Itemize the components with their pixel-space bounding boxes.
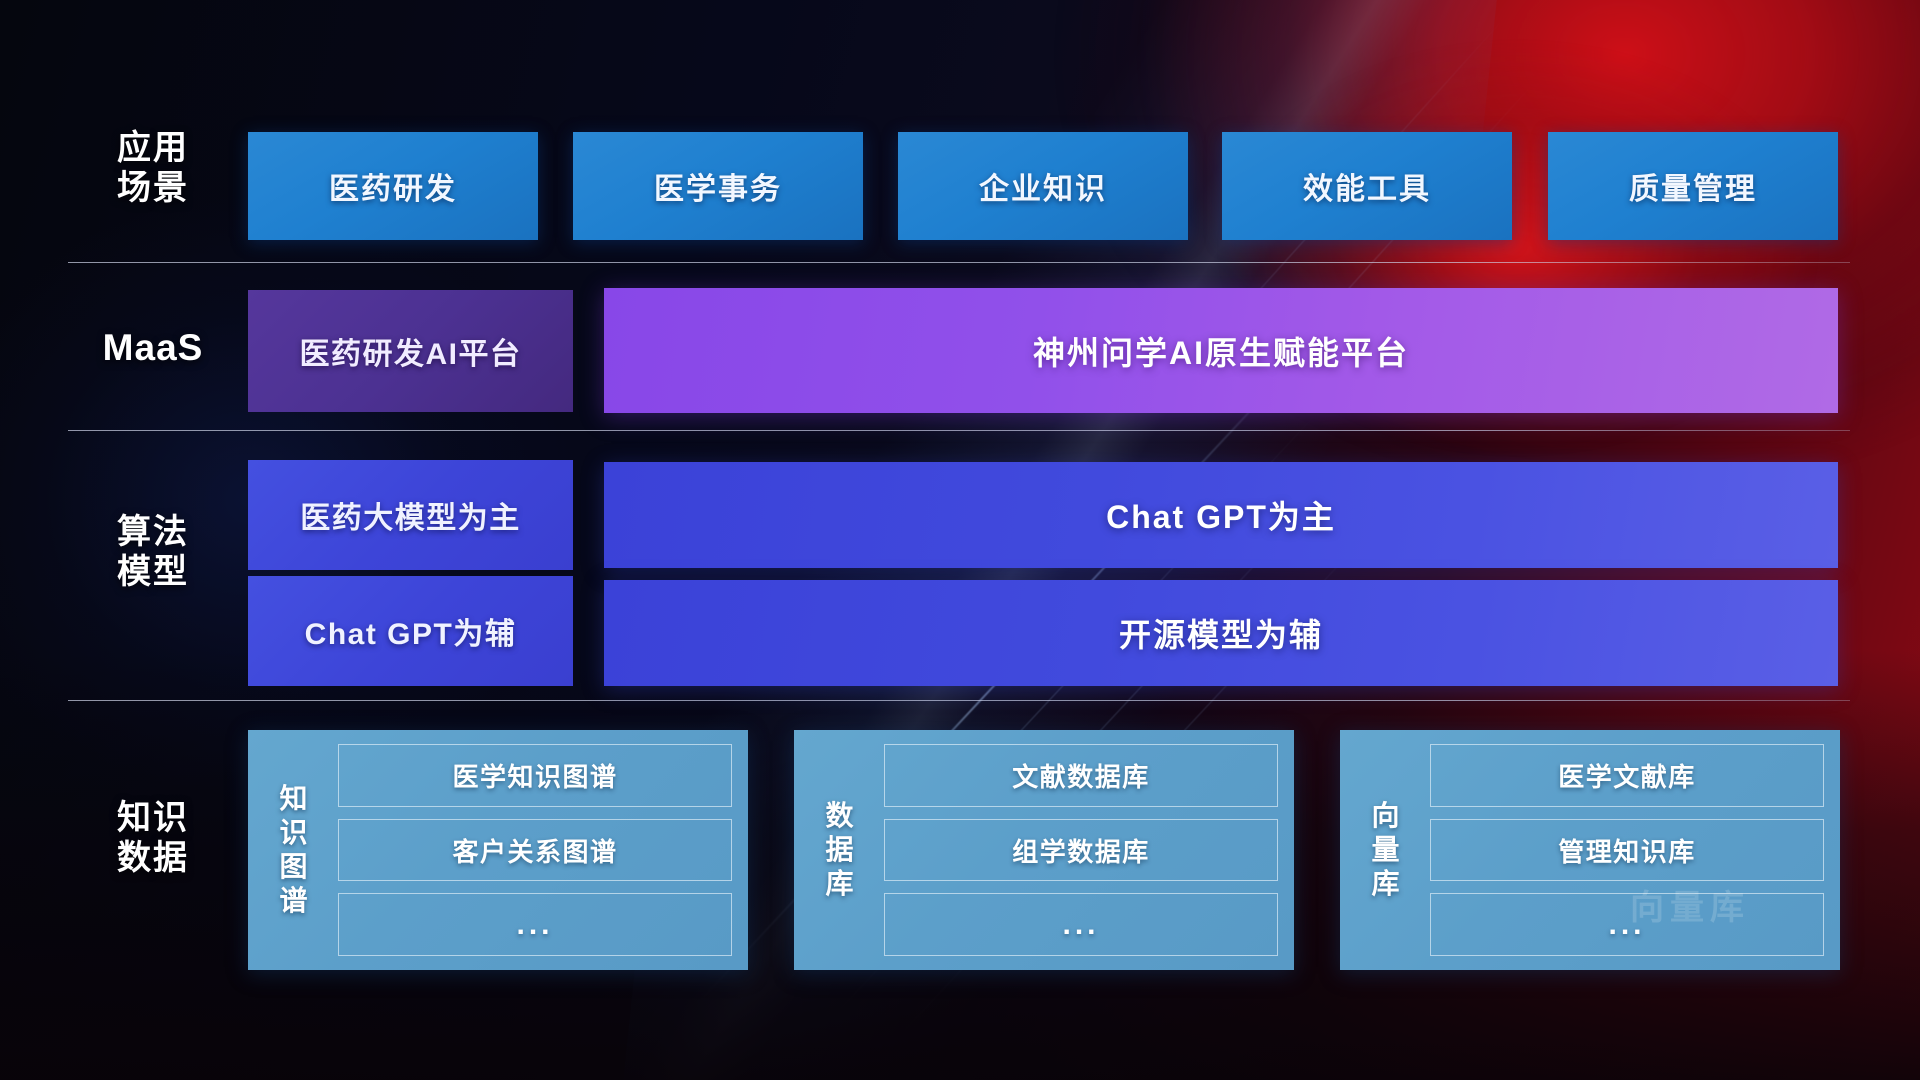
algo-left-label: 医药大模型为主	[300, 493, 521, 537]
knowledge-item[interactable]: 文献数据库	[884, 744, 1278, 807]
app-scenario-box-4[interactable]: 效能工具	[1222, 132, 1512, 240]
knowledge-group-1-items: 医学知识图谱 客户关系图谱 ...	[338, 744, 732, 956]
knowledge-item[interactable]: 医学知识图谱	[338, 744, 732, 807]
app-scenario-box-1[interactable]: 医药研发	[248, 132, 538, 240]
maas-right-label: 神州问学AI原生赋能平台	[1033, 328, 1409, 374]
row-label-application-scenarios: 应用 场景	[78, 128, 228, 208]
row-label-maas: MaaS	[78, 326, 228, 370]
knowledge-group-2-items: 文献数据库 组学数据库 ...	[884, 744, 1278, 956]
app-scenario-label: 质量管理	[1629, 164, 1757, 208]
algo-right-box-1[interactable]: Chat GPT为主	[604, 462, 1838, 568]
knowledge-item-more[interactable]: ...	[1430, 893, 1824, 956]
app-scenario-label: 医学事务	[654, 164, 782, 208]
algo-right-label: 开源模型为辅	[1119, 610, 1323, 656]
row-label-knowledge-data: 知识 数据	[78, 798, 228, 878]
knowledge-item[interactable]: 医学文献库	[1430, 744, 1824, 807]
knowledge-group-3-items: 医学文献库 管理知识库 ...	[1430, 744, 1824, 956]
knowledge-group-1[interactable]: 知 识 图 谱 医学知识图谱 客户关系图谱 ...	[248, 730, 748, 970]
divider-line	[68, 430, 1850, 431]
algo-right-label: Chat GPT为主	[1106, 492, 1336, 538]
knowledge-item[interactable]: 客户关系图谱	[338, 819, 732, 882]
algo-right-box-2[interactable]: 开源模型为辅	[604, 580, 1838, 686]
knowledge-item-more[interactable]: ...	[338, 893, 732, 956]
maas-right-platform[interactable]: 神州问学AI原生赋能平台	[604, 288, 1838, 413]
row-label-algorithm-models: 算法 模型	[78, 512, 228, 592]
maas-left-label: 医药研发AI平台	[300, 329, 522, 373]
knowledge-item-more[interactable]: ...	[884, 893, 1278, 956]
algo-left-box-2[interactable]: Chat GPT为辅	[248, 576, 573, 686]
architecture-diagram: 应用 场景 MaaS 算法 模型 知识 数据 医药研发 医学事务 企业知识 效能…	[0, 0, 1920, 1080]
app-scenario-label: 效能工具	[1303, 164, 1431, 208]
app-scenario-label: 企业知识	[979, 164, 1107, 208]
slide-canvas: 应用 场景 MaaS 算法 模型 知识 数据 医药研发 医学事务 企业知识 效能…	[0, 0, 1920, 1080]
divider-line	[68, 700, 1850, 701]
app-scenario-box-3[interactable]: 企业知识	[898, 132, 1188, 240]
knowledge-group-1-label: 知 识 图 谱	[264, 744, 324, 956]
algo-left-box-1[interactable]: 医药大模型为主	[248, 460, 573, 570]
maas-left-platform[interactable]: 医药研发AI平台	[248, 290, 573, 412]
knowledge-group-2-label: 数 据 库	[810, 744, 870, 956]
app-scenario-label: 医药研发	[329, 164, 457, 208]
knowledge-group-3-label: 向 量 库	[1356, 744, 1416, 956]
app-scenario-box-5[interactable]: 质量管理	[1548, 132, 1838, 240]
knowledge-item[interactable]: 组学数据库	[884, 819, 1278, 882]
knowledge-group-2[interactable]: 数 据 库 文献数据库 组学数据库 ...	[794, 730, 1294, 970]
algo-left-label: Chat GPT为辅	[305, 609, 517, 653]
divider-line	[68, 262, 1850, 263]
knowledge-group-3[interactable]: 向 量 库 医学文献库 管理知识库 ...	[1340, 730, 1840, 970]
app-scenario-box-2[interactable]: 医学事务	[573, 132, 863, 240]
knowledge-item[interactable]: 管理知识库	[1430, 819, 1824, 882]
